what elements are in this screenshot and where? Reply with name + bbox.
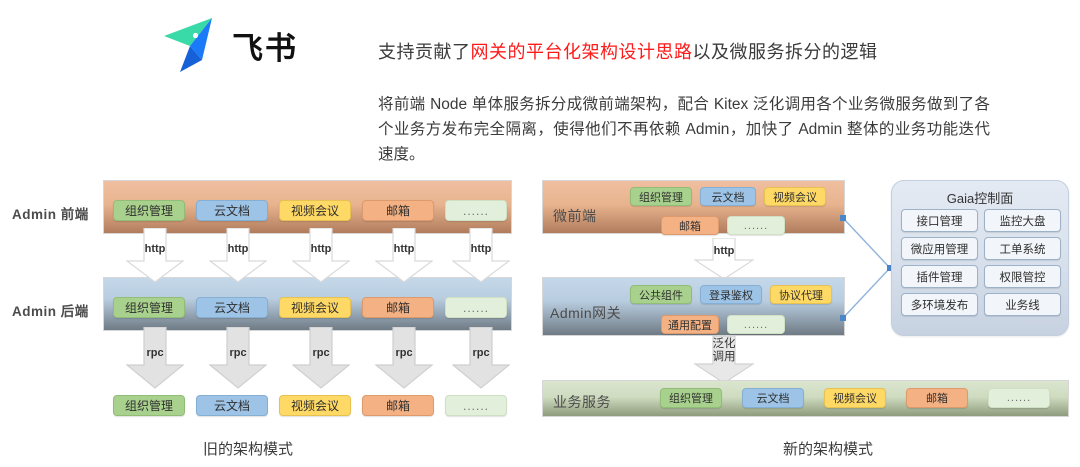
old-backend-chip-3[interactable]: 邮箱 [362, 297, 434, 318]
headline-highlight: 网关的平台化架构设计思路 [471, 42, 693, 62]
gateway-chip-2[interactable]: 协议代理 [770, 285, 832, 304]
old-backend-chip-1[interactable]: 云文档 [196, 297, 268, 318]
old-service-chip-0[interactable]: 组织管理 [113, 395, 185, 416]
http-arrow-label-4: http [452, 243, 510, 256]
micro-frontend-chip-4[interactable]: ...... [727, 216, 785, 235]
old-frontend-chip-1[interactable]: 云文档 [196, 200, 268, 221]
micro-frontend-chip-3[interactable]: 邮箱 [661, 216, 719, 235]
gateway-chip-3[interactable]: 通用配置 [661, 315, 719, 334]
caption-new-arch: 新的架构模式 [783, 438, 873, 459]
gaia-button-api-management[interactable]: 接口管理 [901, 209, 978, 232]
label-micro-frontend: 微前端 [553, 206, 597, 226]
label-admin-frontend: Admin 前端 [12, 203, 89, 223]
gaia-button-permission-control[interactable]: 权限管控 [984, 265, 1061, 288]
old-backend-chip-0[interactable]: 组织管理 [113, 297, 185, 318]
business-chip-3[interactable]: 邮箱 [906, 388, 968, 408]
http-arrow-label-0: http [126, 243, 184, 256]
gaia-button-micro-app-management[interactable]: 微应用管理 [901, 237, 978, 260]
caption-old-arch: 旧的架构模式 [203, 438, 293, 459]
rpc-arrow-label-2: rpc [292, 347, 350, 360]
gaia-button-monitor-dashboard[interactable]: 监控大盘 [984, 209, 1061, 232]
old-frontend-chip-0[interactable]: 组织管理 [113, 200, 185, 221]
gaia-button-multi-env-release[interactable]: 多环境发布 [901, 293, 978, 316]
new-http-arrow-label: http [694, 245, 754, 258]
body-paragraph: 将前端 Node 单体服务拆分成微前端架构，配合 Kitex 泛化调用各个业务微… [378, 92, 990, 167]
business-chip-2[interactable]: 视频会议 [824, 388, 886, 408]
label-admin-gateway: Admin网关 [550, 303, 621, 323]
gaia-title: Gaia控制面 [892, 188, 1068, 207]
micro-frontend-chip-0[interactable]: 组织管理 [630, 187, 692, 206]
http-arrow-label-3: http [375, 243, 433, 256]
gateway-chip-4[interactable]: ...... [727, 315, 785, 334]
gaia-button-business-line[interactable]: 业务线 [984, 293, 1061, 316]
business-chip-1[interactable]: 云文档 [742, 388, 804, 408]
http-arrow-label-1: http [209, 243, 267, 256]
gaia-button-plugin-management[interactable]: 插件管理 [901, 265, 978, 288]
rpc-arrow-label-0: rpc [126, 347, 184, 360]
generic-invoke-label: 泛化 调用 [694, 338, 754, 364]
brand-logo: 飞书 [160, 16, 298, 74]
old-frontend-chip-2[interactable]: 视频会议 [279, 200, 351, 221]
gaia-button-ticket-system[interactable]: 工单系统 [984, 237, 1061, 260]
label-business-service: 业务服务 [553, 392, 611, 412]
headline: 支持贡献了网关的平台化架构设计思路以及微服务拆分的逻辑 [378, 38, 878, 64]
slide-root: 飞书 支持贡献了网关的平台化架构设计思路以及微服务拆分的逻辑 将前端 Node … [0, 0, 1080, 467]
micro-frontend-chip-2[interactable]: 视频会议 [764, 187, 826, 206]
gaia-button-grid: 接口管理 监控大盘 微应用管理 工单系统 插件管理 权限管控 多环境发布 业务线 [901, 209, 1061, 316]
label-admin-backend: Admin 后端 [12, 300, 89, 320]
brand-name: 飞书 [232, 23, 298, 68]
old-backend-chip-4[interactable]: ...... [445, 297, 507, 318]
gaia-control-panel: Gaia控制面 接口管理 监控大盘 微应用管理 工单系统 插件管理 权限管控 多… [891, 180, 1069, 336]
paper-plane-logo-icon [160, 16, 222, 74]
old-service-chip-2[interactable]: 视频会议 [279, 395, 351, 416]
http-arrow-label-2: http [292, 243, 350, 256]
headline-suffix: 以及微服务拆分的逻辑 [693, 42, 878, 62]
old-service-chip-3[interactable]: 邮箱 [362, 395, 434, 416]
generic-invoke-line2: 调用 [713, 351, 736, 363]
rpc-arrow-label-1: rpc [209, 347, 267, 360]
rpc-arrow-label-4: rpc [452, 347, 510, 360]
old-service-chip-1[interactable]: 云文档 [196, 395, 268, 416]
gateway-chip-1[interactable]: 登录鉴权 [700, 285, 762, 304]
gateway-chip-0[interactable]: 公共组件 [630, 285, 692, 304]
business-chip-4[interactable]: ...... [988, 388, 1050, 408]
rpc-arrow-label-3: rpc [375, 347, 433, 360]
business-chip-0[interactable]: 组织管理 [660, 388, 722, 408]
old-backend-chip-2[interactable]: 视频会议 [279, 297, 351, 318]
headline-prefix: 支持贡献了 [378, 42, 471, 62]
generic-invoke-line1: 泛化 [713, 338, 736, 350]
micro-frontend-chip-1[interactable]: 云文档 [700, 187, 756, 206]
old-service-chip-4[interactable]: ...... [445, 395, 507, 416]
old-frontend-chip-3[interactable]: 邮箱 [362, 200, 434, 221]
old-frontend-chip-4[interactable]: ...... [445, 200, 507, 221]
